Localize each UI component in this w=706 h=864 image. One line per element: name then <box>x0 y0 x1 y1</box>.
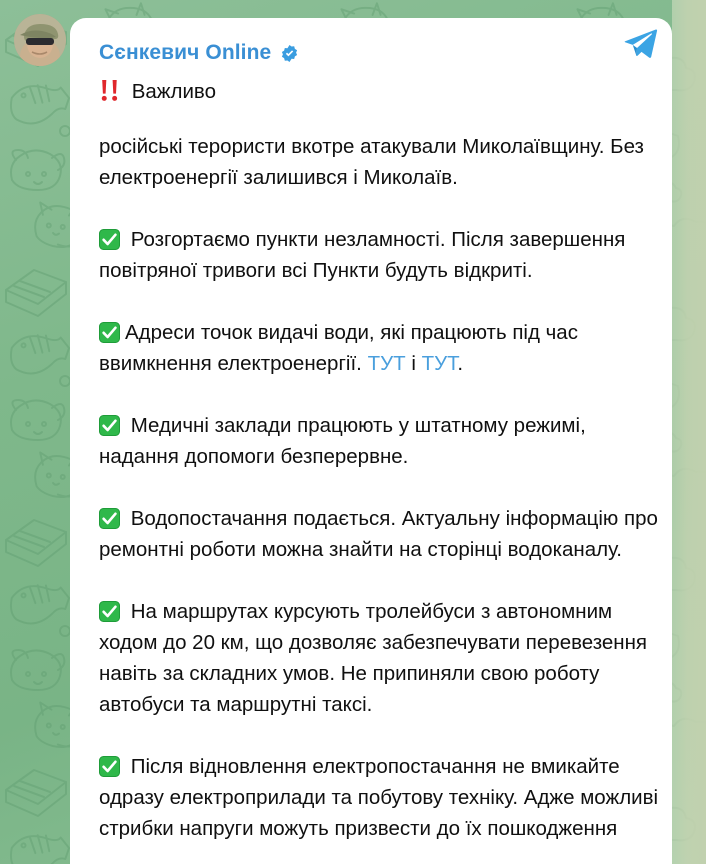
white-check-mark-emoji <box>99 508 120 529</box>
paragraph-resilience-points: Розгортаємо пункти незламності. Після за… <box>99 224 661 286</box>
white-check-mark-emoji <box>99 756 120 777</box>
wallpaper-right-edge-strip <box>672 0 706 864</box>
verified-badge-icon <box>280 44 299 63</box>
message-header: Сєнкевич Online <box>99 36 658 70</box>
white-check-mark-emoji <box>99 601 120 622</box>
white-check-mark-emoji <box>99 415 120 436</box>
telegram-message-card: Сєнкевич Online Важливо російські терори… <box>70 18 672 864</box>
paragraph-attack: російські терористи вкотре атакували Мик… <box>99 131 661 193</box>
paragraph-water-points-text-before: Адреси точок видачі води, які працюють п… <box>99 321 578 375</box>
paragraph-medical: Медичні заклади працюють у штатному режи… <box>99 410 661 472</box>
white-check-mark-emoji <box>99 322 120 343</box>
paragraph-appliances-text: Після відновлення електропостачання не в… <box>99 755 658 840</box>
paragraph-water-points: Адреси точок видачі води, які працюють п… <box>99 317 661 379</box>
white-check-mark-emoji <box>99 229 120 250</box>
channel-avatar[interactable] <box>14 14 66 66</box>
paragraph-transport: На маршрутах курсують тролейбуси з автон… <box>99 596 661 720</box>
message-title-text: Важливо <box>132 80 216 103</box>
channel-name[interactable]: Сєнкевич Online <box>99 41 271 65</box>
message-title-line: Важливо <box>99 76 661 107</box>
paragraph-resilience-points-text: Розгортаємо пункти незламності. Після за… <box>99 228 625 282</box>
water-points-link-1[interactable]: ТУТ <box>368 352 406 375</box>
paragraph-attack-text: російські терористи вкотре атакували Мик… <box>99 135 644 189</box>
paragraph-appliances: Після відновлення електропостачання не в… <box>99 751 661 844</box>
paragraph-water-points-text-after: . <box>457 352 463 375</box>
water-points-link-2[interactable]: ТУТ <box>422 352 458 375</box>
paragraph-transport-text: На маршрутах курсують тролейбуси з автон… <box>99 600 647 716</box>
paragraph-water-points-text-between: і <box>406 352 422 375</box>
telegram-paper-plane-icon <box>622 24 658 60</box>
message-body: Важливо російські терористи вкотре атаку… <box>99 76 661 844</box>
paragraph-water-supply: Водопостачання подається. Актуальну інфо… <box>99 503 661 565</box>
paragraph-water-supply-text: Водопостачання подається. Актуальну інфо… <box>99 507 658 561</box>
double-exclamation-emoji <box>99 79 121 102</box>
paragraph-medical-text: Медичні заклади працюють у штатному режи… <box>99 414 586 468</box>
